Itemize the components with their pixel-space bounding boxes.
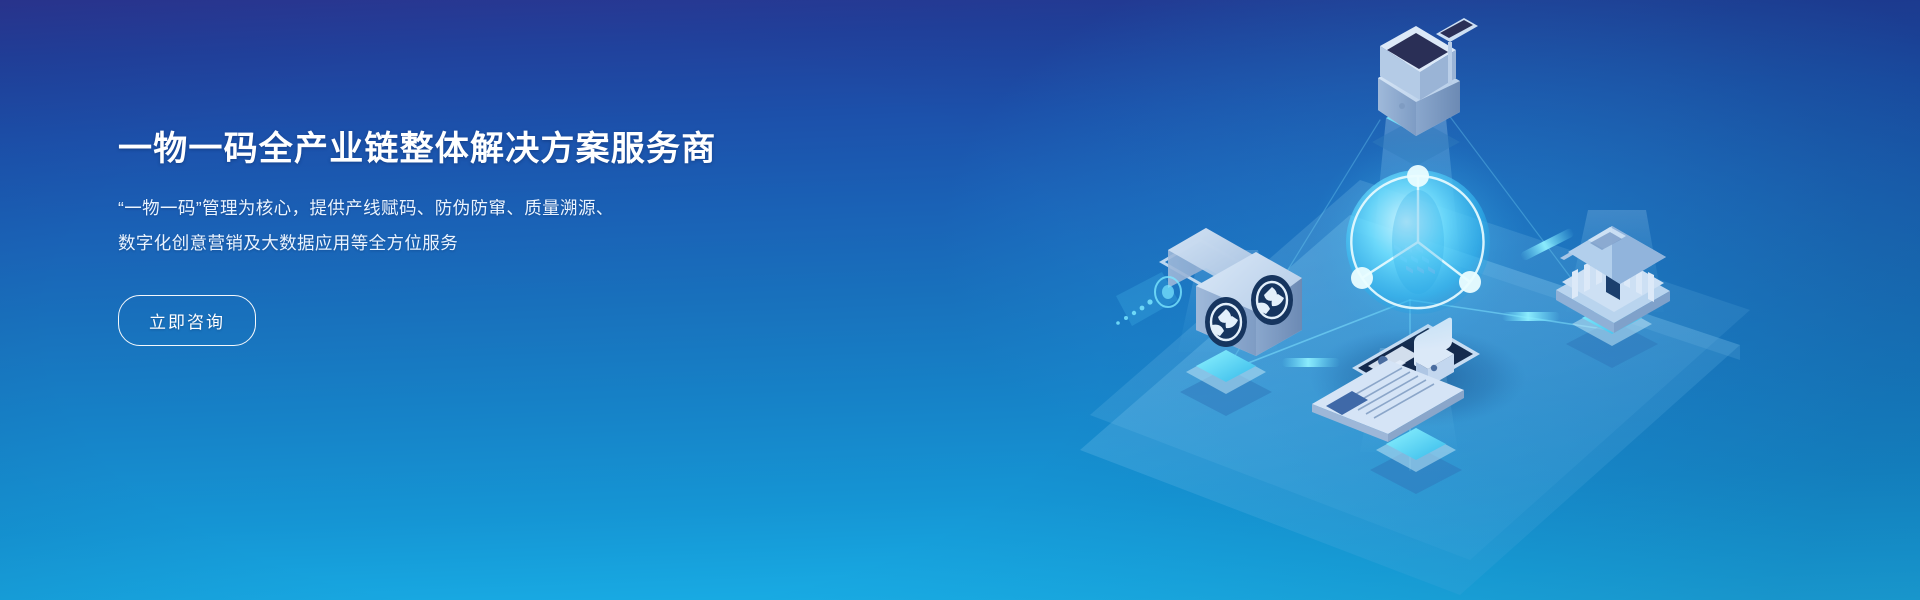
consult-now-button[interactable]: 立即咨询 xyxy=(118,295,256,346)
hero-subtitle-line-2: 数字化创意营销及大数据应用等全方位服务 xyxy=(118,226,818,261)
globe-network-icon xyxy=(1310,134,1526,350)
hero-banner: 一物一码全产业链整体解决方案服务商 “一物一码”管理为核心，提供产线赋码、防伪防… xyxy=(0,0,1920,600)
hero-subtitle-line-1: “一物一码”管理为核心，提供产线赋码、防伪防窜、质量溯源、 xyxy=(118,191,818,226)
hero-illustration xyxy=(1050,0,1850,600)
hero-copy: 一物一码全产业链整体解决方案服务商 “一物一码”管理为核心，提供产线赋码、防伪防… xyxy=(118,128,818,346)
page-title: 一物一码全产业链整体解决方案服务商 xyxy=(118,128,818,171)
hero-subtitle: “一物一码”管理为核心，提供产线赋码、防伪防窜、质量溯源、 数字化创意营销及大数… xyxy=(118,191,818,261)
